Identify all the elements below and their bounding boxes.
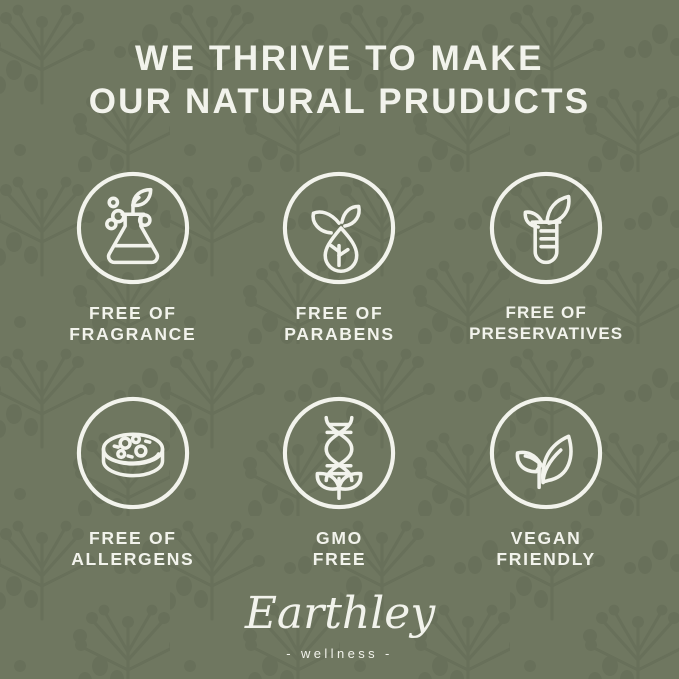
headline-line-2: OUR NATURAL PRUDUCTS <box>20 81 660 124</box>
flask-bubbles-leaf-icon <box>74 169 192 287</box>
badge-label: FREE OF FRAGRANCE <box>69 303 196 346</box>
svg-text:Earthley: Earthley <box>243 588 436 639</box>
petri-dish-icon <box>74 394 192 512</box>
brand-logo: Earthley - wellness - <box>0 584 679 661</box>
badge-free-of-preservatives: FREE OF PRESERVATIVES <box>446 169 646 394</box>
badge-free-of-parabens: FREE OF PARABENS <box>239 169 439 394</box>
logo-tagline: - wellness - <box>286 646 393 661</box>
promo-poster: WE THRIVE TO MAKE OUR NATURAL PRUDUCTS <box>0 0 679 679</box>
badge-free-of-fragrance: FREE OF FRAGRANCE <box>33 169 233 394</box>
badge-label: FREE OF ALLERGENS <box>71 528 194 571</box>
earthley-wordmark: Earthley <box>225 584 455 644</box>
badge-label: GMO FREE <box>313 528 366 571</box>
headline-line-1: WE THRIVE TO MAKE <box>20 38 660 81</box>
test-tube-leaf-icon <box>487 169 605 287</box>
badge-grid: FREE OF FRAGRANCE FREE OF PARABENS <box>30 169 650 619</box>
badge-label: VEGAN FRIENDLY <box>496 528 596 571</box>
page-title: WE THRIVE TO MAKE OUR NATURAL PRUDUCTS <box>20 38 660 123</box>
dna-sprout-icon <box>280 394 398 512</box>
two-leaves-icon <box>487 394 605 512</box>
badge-label: FREE OF PARABENS <box>284 303 395 346</box>
droplet-sprout-icon <box>280 169 398 287</box>
poster-content: WE THRIVE TO MAKE OUR NATURAL PRUDUCTS <box>0 0 679 679</box>
badge-label: FREE OF PRESERVATIVES <box>469 303 623 344</box>
